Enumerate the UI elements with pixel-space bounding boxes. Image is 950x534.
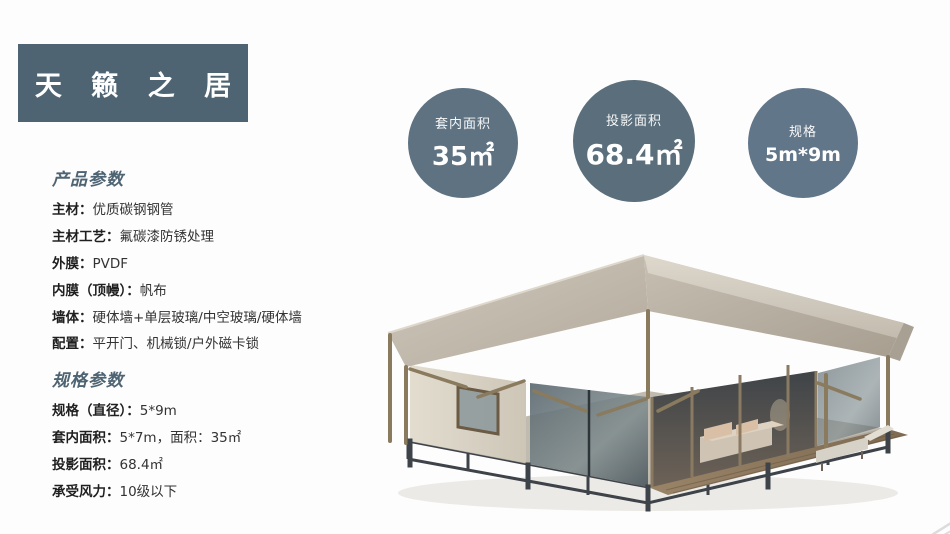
spec-line: 配置：平开门、机械锁/户外磁卡锁 (52, 336, 302, 353)
page-title: 天 籁 之 居 (25, 64, 241, 103)
spec-value: 平开门、机械锁/户外磁卡锁 (93, 336, 260, 352)
section-heading-product: 产品参数 (52, 165, 302, 190)
spec-line: 墙体：硬体墙+单层玻璃/中空玻璃/硬体墙 (52, 310, 302, 327)
spec-value: 硬体墙+单层玻璃/中空玻璃/硬体墙 (93, 310, 302, 326)
roof-left-slope (388, 255, 648, 367)
spec-key: 配置： (52, 336, 93, 352)
spec-line: 内膜（顶幔）：帆布 (52, 283, 302, 300)
stat-label: 规格 (789, 121, 817, 140)
spec-value: 5*7m，面积：35㎡ (120, 430, 242, 446)
stat-circle-interior-area: 套内面积 35㎡ (408, 88, 518, 198)
stat-circle-projected-area: 投影面积 68.4㎡ (573, 80, 695, 202)
stat-circle-dimensions: 规格 5m*9m (748, 88, 858, 198)
spec-value: 帆布 (140, 283, 167, 299)
spec-key: 主材工艺： (52, 229, 120, 245)
spec-key: 承受风力： (52, 484, 120, 500)
page-root: 天 籁 之 居 产品参数 主材：优质碳钢钢管 主材工艺：氟碳漆防锈处理 外膜：P… (0, 0, 950, 534)
stat-value: 35㎡ (432, 136, 494, 173)
stat-value: 5m*9m (765, 144, 841, 166)
stat-label: 套内面积 (435, 113, 491, 132)
spec-key: 墙体： (52, 310, 93, 326)
spec-value: 氟碳漆防锈处理 (120, 229, 215, 245)
stat-value: 68.4㎡ (585, 133, 682, 173)
spec-value: 优质碳钢钢管 (93, 202, 174, 218)
spec-line: 主材：优质碳钢钢管 (52, 202, 302, 219)
spec-section-specification: 规格参数 规格（直径）：5*9m 套内面积：5*7m，面积：35㎡ 投影面积：6… (52, 366, 241, 511)
spec-key: 内膜（顶幔）： (52, 283, 140, 299)
spec-line: 规格（直径）：5*9m (52, 403, 241, 420)
spec-section-product: 产品参数 主材：优质碳钢钢管 主材工艺：氟碳漆防锈处理 外膜：PVDF 内膜（顶… (52, 165, 302, 363)
spec-value: 10级以下 (120, 484, 178, 500)
spec-key: 外膜： (52, 256, 93, 272)
spec-key: 规格（直径）： (52, 403, 140, 419)
tent-house-render (348, 215, 938, 525)
title-banner: 天 籁 之 居 (18, 44, 248, 122)
spec-value: 68.4㎡ (120, 457, 164, 473)
section-heading-specification: 规格参数 (52, 366, 241, 391)
watermark-logo (906, 515, 950, 534)
spec-line: 套内面积：5*7m，面积：35㎡ (52, 430, 241, 447)
spec-line: 主材工艺：氟碳漆防锈处理 (52, 229, 302, 246)
spec-key: 投影面积： (52, 457, 120, 473)
spec-line: 外膜：PVDF (52, 256, 302, 273)
spec-key: 主材： (52, 202, 93, 218)
spec-key: 套内面积： (52, 430, 120, 446)
spec-value: 5*9m (140, 403, 177, 419)
stat-label: 投影面积 (606, 110, 662, 129)
spec-line: 承受风力：10级以下 (52, 484, 241, 501)
spec-value: PVDF (93, 256, 129, 272)
spec-line: 投影面积：68.4㎡ (52, 457, 241, 474)
